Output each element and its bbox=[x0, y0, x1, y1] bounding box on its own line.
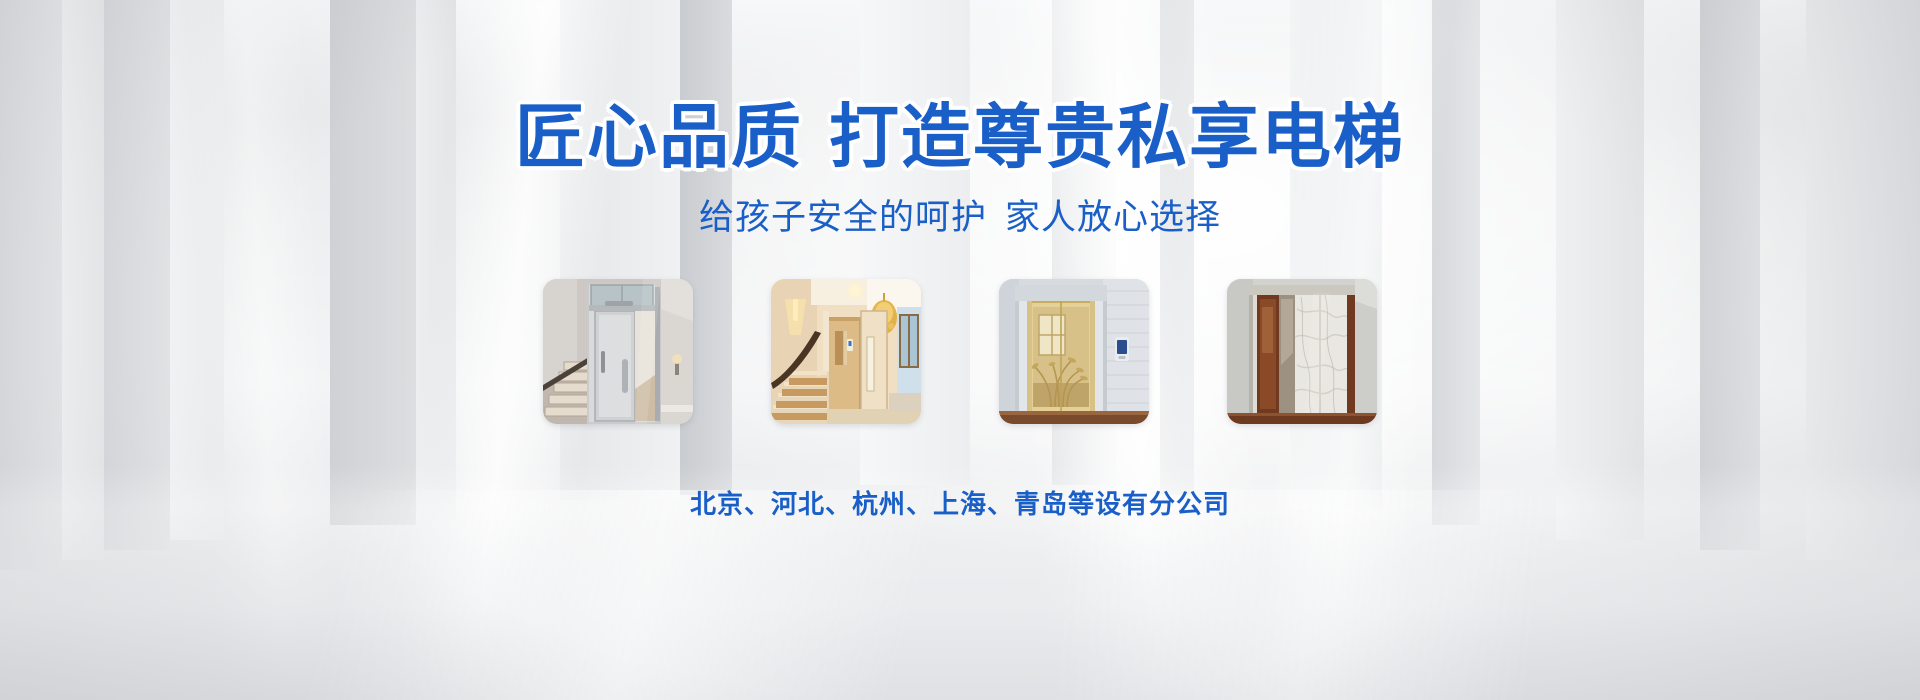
product-thumbnail-stainless-steel-home-elevator[interactable] bbox=[543, 279, 693, 424]
branch-offices-caption: 北京、河北、杭州、上海、青岛等设有分公司 bbox=[690, 484, 1230, 521]
product-thumbnail-row bbox=[543, 279, 1377, 424]
subtitle-segment-1: 给孩子安全的呵护 bbox=[699, 198, 987, 237]
product-thumbnail-marble-interior-home-lift[interactable] bbox=[1227, 279, 1377, 424]
stainless-steel-home-elevator-image bbox=[543, 279, 693, 424]
headline-segment-1: 匠心品质 bbox=[515, 98, 803, 176]
headline-segment-2: 打造尊贵私享电梯 bbox=[829, 98, 1405, 176]
banner-content: 匠心品质打造尊贵私享电梯 给孩子安全的呵护家人放心选择 bbox=[0, 0, 1920, 700]
marble-interior-home-lift-image bbox=[1227, 279, 1377, 424]
banner-subtitle: 给孩子安全的呵护家人放心选择 bbox=[699, 200, 1221, 235]
villa-elevator-staircase-image bbox=[771, 279, 921, 424]
subtitle-segment-2: 家人放心选择 bbox=[1005, 198, 1221, 237]
hero-banner: 匠心品质打造尊贵私享电梯 给孩子安全的呵护家人放心选择 bbox=[0, 0, 1920, 700]
banner-headline: 匠心品质打造尊贵私享电梯 bbox=[515, 102, 1405, 172]
product-thumbnail-golden-glass-door-elevator[interactable] bbox=[999, 279, 1149, 424]
product-thumbnail-villa-elevator-staircase[interactable] bbox=[771, 279, 921, 424]
golden-glass-door-elevator-image bbox=[999, 279, 1149, 424]
